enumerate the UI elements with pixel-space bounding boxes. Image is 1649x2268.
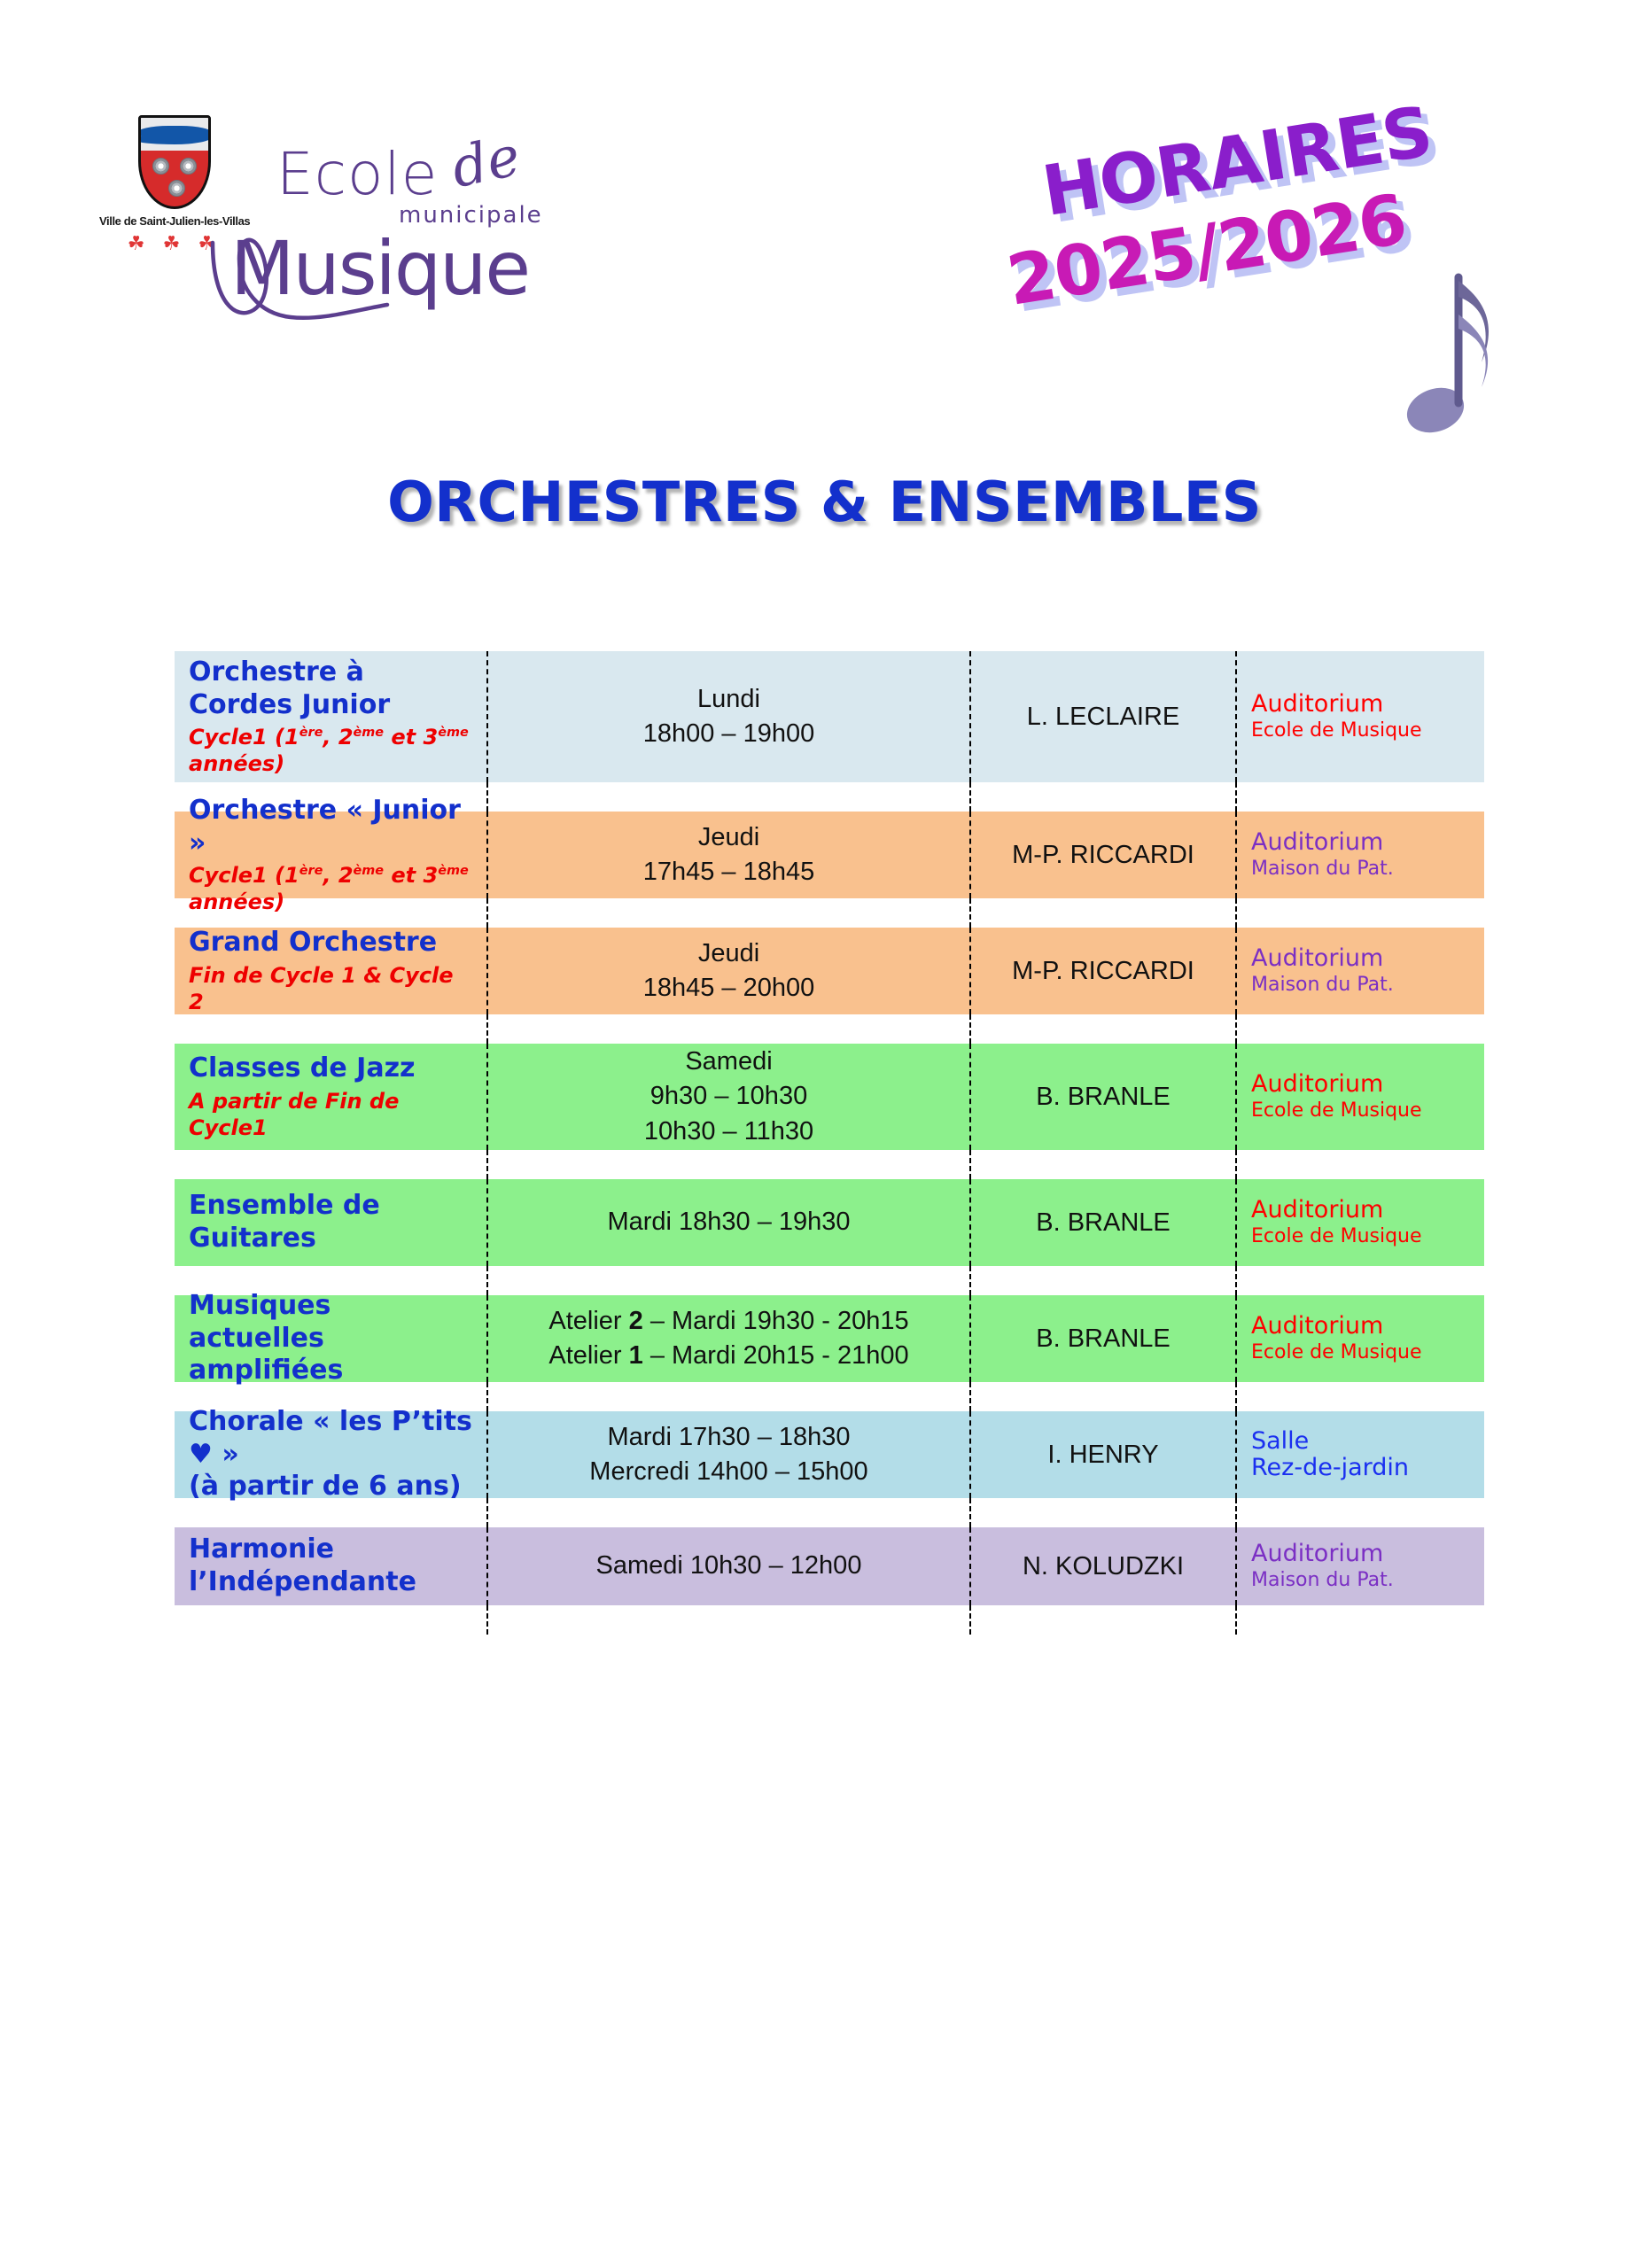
cell-schedule: Jeudi17h45 – 18h45	[486, 812, 969, 898]
teacher-name: L. LECLAIRE	[1027, 703, 1179, 732]
location-primary: Auditorium	[1251, 691, 1383, 718]
spacer-cell	[969, 1605, 1235, 1635]
page-title: ORCHESTRES & ENSEMBLES	[0, 470, 1649, 534]
schedule-line: Lundi	[697, 682, 760, 717]
schedule-line: 18h45 – 20h00	[643, 971, 815, 1006]
location-primary: Auditorium	[1251, 829, 1383, 856]
cell-ensemble-name: Ensemble deGuitares	[175, 1179, 486, 1266]
schedule-line: Mercredi 14h00 – 15h00	[589, 1455, 867, 1489]
cell-teacher: M-P. RICCARDI	[969, 812, 1235, 898]
row-spacer	[175, 1014, 1484, 1044]
ensemble-name: Chorale « les P’tits ♥ »	[189, 1406, 474, 1471]
music-school-wordmark: Ecole de municipale Musique	[213, 133, 549, 346]
table-row: Chorale « les P’tits ♥ »(à partir de 6 a…	[175, 1411, 1484, 1498]
location-secondary: Maison du Pat.	[1251, 1569, 1394, 1592]
wordmark-de: de	[446, 123, 525, 200]
table-row: Ensemble deGuitaresMardi 18h30 – 19h30B.…	[175, 1179, 1484, 1266]
schedule-line: Atelier 2 – Mardi 19h30 - 20h15	[548, 1304, 908, 1339]
schedule-line: Mardi 18h30 – 19h30	[607, 1205, 850, 1239]
spacer-cell	[1235, 898, 1484, 928]
schedule-line: Samedi	[685, 1045, 772, 1079]
ensemble-name-line2: Cordes Junior	[189, 689, 390, 722]
spacer-cell	[1235, 782, 1484, 812]
table-row: Grand OrchestreFin de Cycle 1 & Cycle 2J…	[175, 928, 1484, 1014]
spacer-cell	[175, 1605, 486, 1635]
cell-schedule: Atelier 2 – Mardi 19h30 - 20h15Atelier 1…	[486, 1295, 969, 1382]
spacer-cell	[175, 1014, 486, 1044]
spacer-cell	[1235, 1382, 1484, 1411]
schedule-line: Mardi 17h30 – 18h30	[607, 1420, 850, 1455]
location-secondary: Maison du Pat.	[1251, 858, 1394, 881]
cell-ensemble-name: Chorale « les P’tits ♥ »(à partir de 6 a…	[175, 1411, 486, 1498]
spacer-cell	[969, 1150, 1235, 1179]
ensemble-name: Orchestre « Junior »	[189, 795, 474, 859]
cell-teacher: B. BRANLE	[969, 1179, 1235, 1266]
cell-location: AuditoriumMaison du Pat.	[1235, 1527, 1484, 1605]
cell-teacher: B. BRANLE	[969, 1295, 1235, 1382]
location-secondary: Rez-de-jardin	[1251, 1455, 1409, 1481]
location-secondary: Ecole de Musique	[1251, 1225, 1422, 1248]
cell-location: AuditoriumEcole de Musique	[1235, 1295, 1484, 1382]
school-logo: Ville de Saint-Julien-les-Villas ☘ ☘ ☘ E…	[71, 115, 532, 372]
spacer-cell	[969, 1014, 1235, 1044]
spacer-cell	[486, 1498, 969, 1527]
coat-of-arms-icon	[138, 115, 211, 209]
spacer-cell	[1235, 1605, 1484, 1635]
cell-schedule: Samedi9h30 – 10h3010h30 – 11h30	[486, 1044, 969, 1150]
cell-ensemble-name: Classes de JazzA partir de Fin de Cycle1	[175, 1044, 486, 1150]
cell-ensemble-name: Orchestre àCordes JuniorCycle1 (1ère, 2è…	[175, 651, 486, 782]
teacher-name: B. BRANLE	[1036, 1083, 1171, 1112]
cell-ensemble-name: Orchestre « Junior »Cycle1 (1ère, 2ème e…	[175, 812, 486, 898]
schedule-line: 9h30 – 10h30	[650, 1079, 807, 1114]
schedule-line: Samedi 10h30 – 12h00	[596, 1549, 862, 1583]
cell-location: AuditoriumEcole de Musique	[1235, 1044, 1484, 1150]
teacher-name: N. KOLUDZKI	[1023, 1552, 1184, 1581]
schedule-line: 10h30 – 11h30	[644, 1115, 813, 1149]
spacer-cell	[175, 1498, 486, 1527]
cell-location: AuditoriumEcole de Musique	[1235, 1179, 1484, 1266]
table-row: Classes de JazzA partir de Fin de Cycle1…	[175, 1044, 1484, 1150]
spacer-cell	[175, 898, 486, 928]
ensemble-name: Musiques actuelles	[189, 1290, 474, 1355]
document-page: Ville de Saint-Julien-les-Villas ☘ ☘ ☘ E…	[0, 0, 1649, 2268]
row-spacer	[175, 1150, 1484, 1179]
spacer-cell	[1235, 1150, 1484, 1179]
cell-teacher: B. BRANLE	[969, 1044, 1235, 1150]
table-row: Orchestre àCordes JuniorCycle1 (1ère, 2è…	[175, 651, 1484, 782]
cell-location: SalleRez-de-jardin	[1235, 1411, 1484, 1498]
ensemble-level: Fin de Cycle 1 & Cycle 2	[189, 962, 474, 1015]
music-note-icon	[1400, 270, 1506, 439]
spacer-cell	[969, 1266, 1235, 1295]
spacer-cell	[486, 1150, 969, 1179]
table-row: Harmonie l’IndépendanteSamedi 10h30 – 12…	[175, 1527, 1484, 1605]
cell-ensemble-name: Harmonie l’Indépendante	[175, 1527, 486, 1605]
cell-location: AuditoriumMaison du Pat.	[1235, 928, 1484, 1014]
cell-location: AuditoriumMaison du Pat.	[1235, 812, 1484, 898]
row-spacer	[175, 898, 1484, 928]
teacher-name: M-P. RICCARDI	[1012, 841, 1194, 870]
ensemble-name: Ensemble de	[189, 1190, 380, 1223]
spacer-cell	[486, 898, 969, 928]
table-row: Musiques actuellesamplifiéesAtelier 2 – …	[175, 1295, 1484, 1382]
cell-schedule: Mardi 17h30 – 18h30Mercredi 14h00 – 15h0…	[486, 1411, 969, 1498]
teacher-name: B. BRANLE	[1036, 1208, 1171, 1238]
location-primary: Salle	[1251, 1428, 1309, 1455]
location-secondary: Ecole de Musique	[1251, 1341, 1422, 1364]
row-spacer	[175, 1498, 1484, 1527]
schedule-line: 17h45 – 18h45	[643, 855, 815, 889]
teacher-name: B. BRANLE	[1036, 1324, 1171, 1354]
spacer-cell	[969, 1498, 1235, 1527]
spacer-cell	[1235, 1014, 1484, 1044]
location-secondary: Maison du Pat.	[1251, 974, 1394, 997]
spacer-cell	[1235, 1498, 1484, 1527]
spacer-cell	[969, 782, 1235, 812]
location-primary: Auditorium	[1251, 945, 1383, 972]
spacer-cell	[486, 1382, 969, 1411]
page-header: Ville de Saint-Julien-les-Villas ☘ ☘ ☘ E…	[0, 0, 1649, 461]
location-primary: Auditorium	[1251, 1197, 1383, 1223]
spacer-cell	[486, 1605, 969, 1635]
row-spacer	[175, 1605, 1484, 1635]
cell-location: AuditoriumEcole de Musique	[1235, 651, 1484, 782]
wordmark-musique: Musique	[230, 225, 529, 312]
cell-ensemble-name: Musiques actuellesamplifiées	[175, 1295, 486, 1382]
spacer-cell	[969, 898, 1235, 928]
cell-teacher: I. HENRY	[969, 1411, 1235, 1498]
location-secondary: Ecole de Musique	[1251, 719, 1422, 742]
location-primary: Auditorium	[1251, 1071, 1383, 1098]
schedule-line: Jeudi	[698, 936, 759, 971]
schedule-line: 18h00 – 19h00	[643, 717, 815, 751]
table-row: Orchestre « Junior »Cycle1 (1ère, 2ème e…	[175, 812, 1484, 898]
spacer-cell	[486, 1266, 969, 1295]
cell-schedule: Mardi 18h30 – 19h30	[486, 1179, 969, 1266]
teacher-name: I. HENRY	[1047, 1441, 1158, 1470]
cell-schedule: Jeudi18h45 – 20h00	[486, 928, 969, 1014]
teacher-name: M-P. RICCARDI	[1012, 957, 1194, 986]
ensemble-name: Grand Orchestre	[189, 927, 437, 959]
ensemble-name-line2: Guitares	[189, 1223, 316, 1255]
cell-schedule: Lundi18h00 – 19h00	[486, 651, 969, 782]
cell-teacher: M-P. RICCARDI	[969, 928, 1235, 1014]
schedule-table: Orchestre àCordes JuniorCycle1 (1ère, 2è…	[175, 651, 1484, 1635]
wordmark-ecole: Ecole	[276, 140, 438, 208]
location-primary: Auditorium	[1251, 1313, 1383, 1340]
spacer-cell	[969, 1382, 1235, 1411]
spacer-cell	[486, 782, 969, 812]
cell-schedule: Samedi 10h30 – 12h00	[486, 1527, 969, 1605]
location-primary: Auditorium	[1251, 1541, 1383, 1567]
ensemble-level: A partir de Fin de Cycle1	[189, 1088, 474, 1141]
spacer-cell	[175, 1150, 486, 1179]
ensemble-level: Cycle1 (1ère, 2ème et 3ème années)	[189, 724, 474, 777]
cell-ensemble-name: Grand OrchestreFin de Cycle 1 & Cycle 2	[175, 928, 486, 1014]
schedule-line: Atelier 1 – Mardi 20h15 - 21h00	[548, 1339, 908, 1373]
cell-teacher: L. LECLAIRE	[969, 651, 1235, 782]
spacer-cell	[1235, 1266, 1484, 1295]
cell-teacher: N. KOLUDZKI	[969, 1527, 1235, 1605]
ensemble-name: Classes de Jazz	[189, 1052, 416, 1085]
ensemble-name: Orchestre à	[189, 656, 364, 689]
schedule-line: Jeudi	[698, 820, 759, 855]
location-secondary: Ecole de Musique	[1251, 1099, 1422, 1122]
spacer-cell	[486, 1014, 969, 1044]
ensemble-name: Harmonie l’Indépendante	[189, 1534, 474, 1598]
